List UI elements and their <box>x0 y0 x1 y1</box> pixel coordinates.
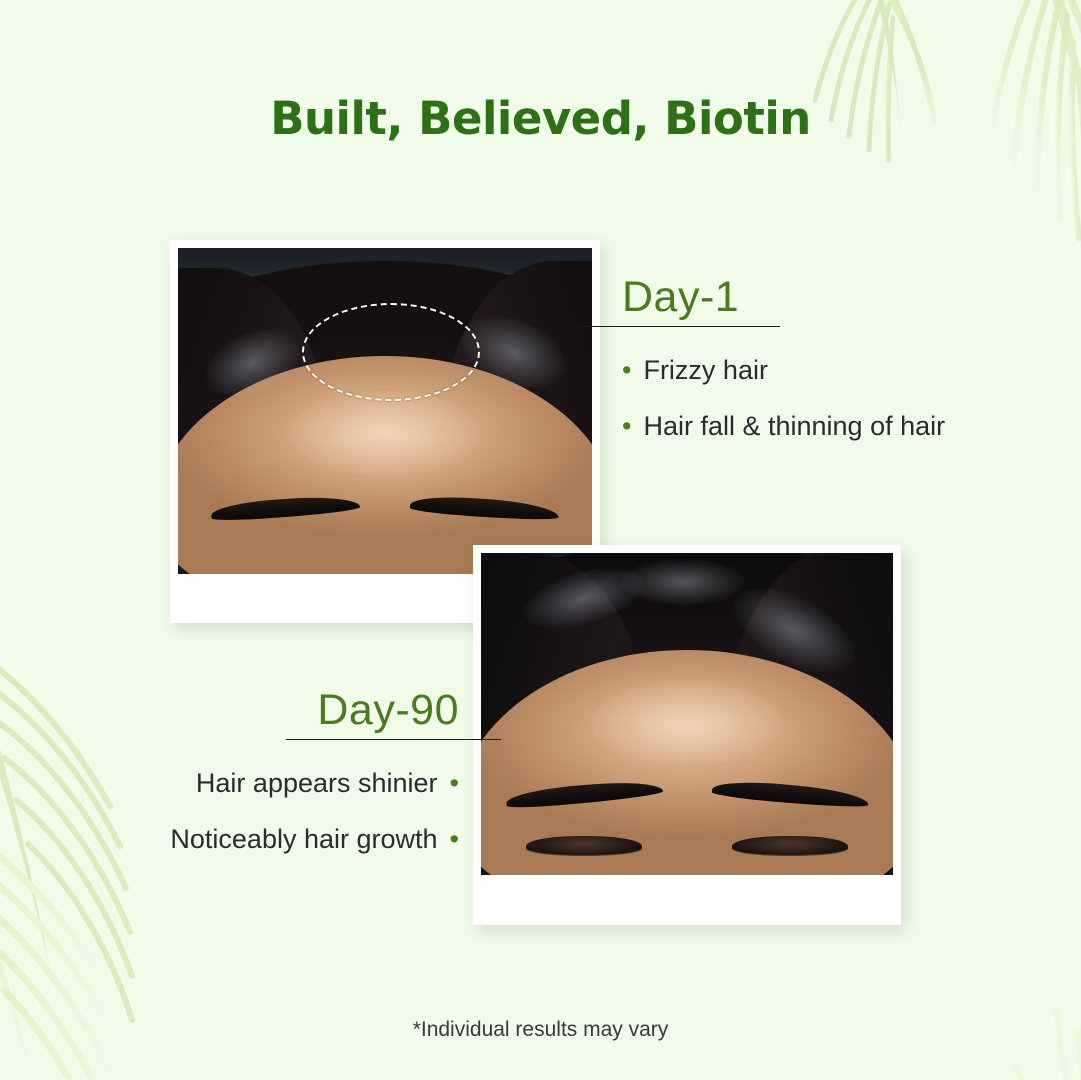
list-item-label: Noticeably hair growth <box>170 823 437 857</box>
list-item: • Hair fall & thinning of hair <box>600 410 1030 444</box>
promo-canvas: Built, Believed, Biotin <box>0 0 1081 1080</box>
after-benefit-list: Hair appears shinier • Noticeably hair g… <box>61 767 481 857</box>
after-heading: Day-90 <box>61 688 481 733</box>
thinning-area-highlight-icon <box>302 303 480 401</box>
disclaimer-text: *Individual results may vary <box>0 1018 1081 1042</box>
after-heading-rule <box>286 739 501 740</box>
bullet-icon: • <box>622 354 631 388</box>
list-item-label: Hair fall & thinning of hair <box>643 410 945 444</box>
before-photo <box>178 248 592 574</box>
after-label-block: Day-90 Hair appears shinier • Noticeably… <box>61 688 481 879</box>
bullet-icon: • <box>450 767 459 801</box>
bullet-icon: • <box>622 410 631 444</box>
page-title: Built, Believed, Biotin <box>0 92 1081 145</box>
before-heading-rule <box>580 326 780 327</box>
before-benefit-list: • Frizzy hair • Hair fall & thinning of … <box>600 354 1030 444</box>
after-photo <box>481 553 893 875</box>
list-item-label: Frizzy hair <box>643 354 768 388</box>
list-item: Noticeably hair growth • <box>61 823 481 857</box>
list-item: • Frizzy hair <box>600 354 1030 388</box>
after-photo-frame <box>473 545 901 925</box>
palm-leaf-icon-bottom-right <box>911 900 1081 1080</box>
bullet-icon: • <box>450 823 459 857</box>
list-item: Hair appears shinier • <box>61 767 481 801</box>
list-item-label: Hair appears shinier <box>196 767 438 801</box>
before-label-block: Day-1 • Frizzy hair • Hair fall & thinni… <box>600 275 1030 466</box>
before-heading: Day-1 <box>600 275 1030 320</box>
